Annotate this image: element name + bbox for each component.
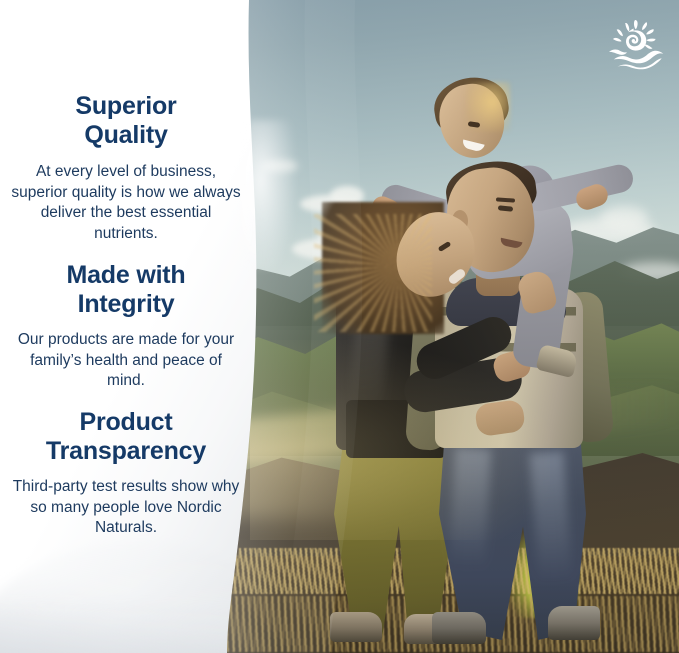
heading-line-1: Made with — [66, 261, 185, 289]
heading-line-2: Transparency — [46, 437, 206, 465]
heading-line-2: Integrity — [78, 290, 175, 318]
value-prop-product-transparency: ProductTransparency Third-party test res… — [8, 408, 244, 539]
value-prop-made-with-integrity: Made withIntegrity Our products are made… — [10, 261, 242, 392]
woman-left-boot — [330, 612, 382, 642]
value-props-content: SuperiorQuality At every level of busine… — [0, 0, 250, 653]
value-prop-body: Third-party test results show why so man… — [8, 477, 244, 539]
heading-line-2: Quality — [84, 121, 167, 149]
jeans-highlight — [449, 447, 491, 569]
value-prop-heading: ProductTransparency — [8, 408, 244, 466]
value-prop-body: Our products are made for your family’s … — [10, 330, 242, 392]
value-prop-heading: SuperiorQuality — [10, 92, 242, 150]
woman-hair-strands — [314, 214, 432, 332]
heading-line-1: Product — [79, 408, 172, 436]
value-prop-body: At every level of business, superior qua… — [10, 162, 242, 244]
man-left-boot — [432, 612, 486, 644]
value-prop-superior-quality: SuperiorQuality At every level of busine… — [10, 92, 242, 244]
sun-wave-logo — [605, 18, 667, 70]
cloud — [600, 206, 648, 230]
man-right-boot — [548, 606, 600, 640]
cloud — [262, 160, 298, 172]
lifestyle-brand-banner: SuperiorQuality At every level of busine… — [0, 0, 679, 653]
value-prop-heading: Made withIntegrity — [10, 261, 242, 319]
heading-line-1: Superior — [75, 92, 176, 120]
